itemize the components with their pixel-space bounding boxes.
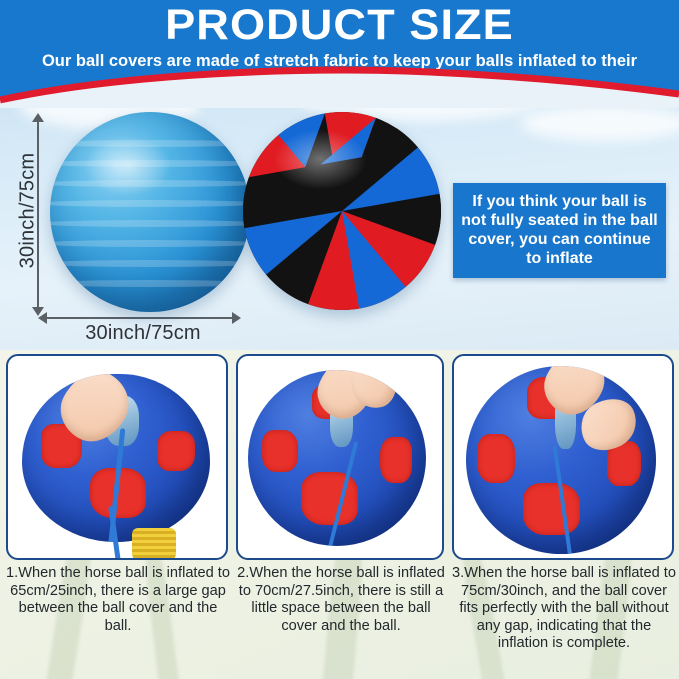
exercise-ball-image <box>50 112 250 312</box>
vertical-dimension-label: 30inch/75cm <box>17 126 40 296</box>
horizontal-dimension-line <box>46 317 239 319</box>
step-caption-2: 2.When the horse ball is inflated to 70c… <box>234 565 448 635</box>
horizontal-dimension-label: 30inch/75cm <box>44 322 242 345</box>
dimension-arrow-up-icon <box>32 113 44 122</box>
inflate-tip-callout: If you think your ball is not fully seat… <box>453 183 666 278</box>
foot-pump-icon <box>132 528 176 560</box>
beach-ball-image <box>243 112 441 310</box>
step-caption-1: 1.When the horse ball is inflated to 65c… <box>4 565 232 635</box>
size-diagram-section: 30inch/75cm 30inch/75cm <box>0 95 679 350</box>
step-image-1 <box>6 354 228 560</box>
step-image-3 <box>452 354 674 560</box>
step-image-2 <box>236 354 444 560</box>
infographic-page: PRODUCT SIZE Our ball covers are made of… <box>0 0 679 679</box>
steps-section: 1.When the horse ball is inflated to 65c… <box>0 350 679 679</box>
step-caption-3: 3.When the horse ball is inflated to 75c… <box>450 565 678 653</box>
cloud-decor <box>520 105 679 141</box>
page-title: PRODUCT SIZE <box>0 2 679 48</box>
red-wave-divider <box>0 60 679 108</box>
